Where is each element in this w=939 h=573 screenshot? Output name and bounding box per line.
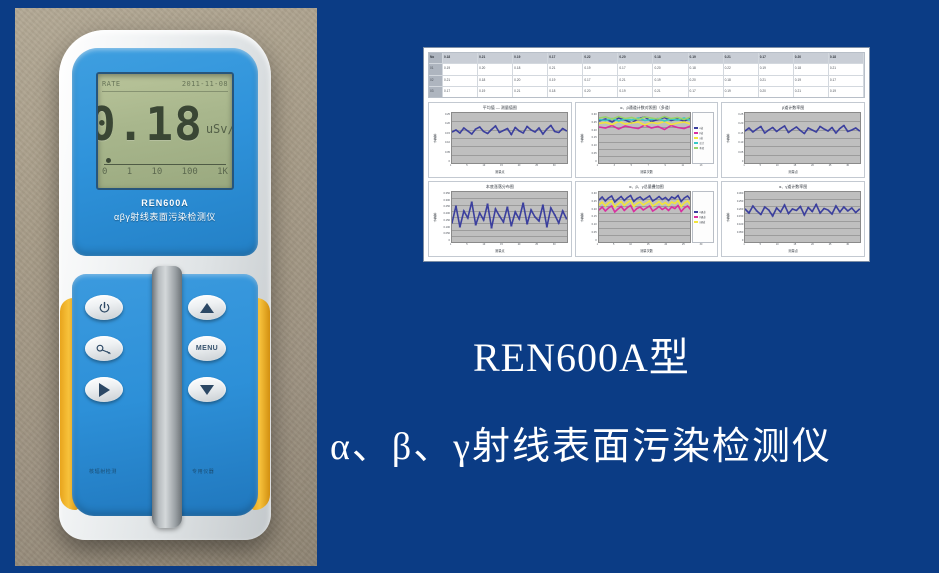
chart-data-point — [471, 133, 474, 134]
chart-y-axis-label: 计数率 — [725, 191, 731, 243]
table-cell: 0.21 — [548, 64, 583, 74]
table-cell: 0.19 — [724, 87, 759, 97]
lcd-scale-tick: 10 — [151, 167, 162, 177]
chart-data-point — [482, 219, 485, 220]
chart-data-point — [637, 119, 639, 120]
chart-data-point — [667, 200, 669, 201]
chart-data-point — [636, 203, 638, 204]
legend-swatch — [694, 132, 698, 135]
chart-y-tick: 0.300 — [732, 192, 743, 195]
chart-data-point — [683, 197, 685, 198]
chart-data-point — [626, 202, 628, 203]
play-button[interactable] — [85, 377, 123, 402]
chart-data-point — [792, 208, 795, 209]
chart-data-point — [683, 207, 685, 208]
chart-data-point — [658, 196, 660, 197]
chart-data-point — [526, 126, 529, 127]
chart-data-point — [823, 208, 826, 209]
chart-data-point — [651, 205, 653, 206]
chart-y-tick: 0 — [439, 160, 450, 163]
chart-data-point — [557, 222, 560, 223]
legend-item: γ道 — [694, 136, 712, 140]
chart-data-point — [650, 119, 652, 120]
chart-data-point — [617, 208, 619, 209]
table-cell: 0.21 — [618, 76, 653, 86]
chart-data-point — [510, 134, 513, 135]
chart-data-point — [831, 127, 834, 128]
chart-data-point — [772, 215, 775, 216]
table-cell: 0.19 — [478, 87, 513, 97]
legend-label: γ通道 — [699, 220, 705, 224]
chart-data-point — [629, 200, 631, 201]
chart-data-point — [839, 128, 842, 129]
table-cell: 0.20 — [653, 64, 688, 74]
lcd-scale-tick: 1K — [217, 167, 228, 177]
chart-data-point — [811, 129, 814, 130]
chart-data-point — [650, 122, 652, 123]
chart-data-point — [554, 131, 557, 132]
chart-data-point — [561, 210, 564, 211]
chart-data-point — [823, 128, 826, 129]
chart-data-point — [522, 202, 525, 203]
power-icon — [98, 301, 111, 314]
chart-data-point — [538, 127, 541, 128]
lcd-reading: 0.18 uSv/h — [98, 94, 232, 154]
chart-data-point — [756, 210, 759, 211]
legend-item: β通道 — [694, 215, 712, 219]
chart-data-point — [680, 206, 682, 207]
charts-grid: 平均值 — 测量值图计数率0.250.200.150.100.050151015… — [428, 102, 865, 257]
chart-y-tick: 0.350 — [439, 192, 450, 195]
chart-data-point — [506, 128, 509, 129]
lcd-scale: 01101001K — [102, 167, 228, 177]
chart-data-point — [617, 203, 619, 204]
chart-data-point — [632, 211, 634, 212]
chart-data-point — [680, 211, 682, 212]
device-handle-strip — [152, 266, 182, 528]
caption-description: α、β、γ射线表面污染检测仪 — [330, 415, 939, 470]
chart-data-point — [630, 119, 632, 120]
chart-data-point — [655, 203, 657, 204]
maker-text-left: 核辐射检测 — [89, 468, 117, 475]
chart-y-tick: 0.200 — [732, 208, 743, 211]
chart-data-point — [610, 195, 612, 196]
chart-body: 计数率0.250.200.150.100.050 — [725, 112, 861, 164]
chart-y-tick: 0.100 — [732, 223, 743, 226]
lcd-status-right: 2011-11-08 — [182, 80, 228, 88]
chart-data-point — [835, 205, 838, 206]
chart-data-point — [610, 205, 612, 206]
table-row-header: No — [429, 53, 443, 63]
chart-data-point — [506, 206, 509, 207]
chart-data-point — [648, 205, 650, 206]
chart-series-line — [745, 126, 860, 134]
table-cell: 0.17 — [583, 76, 618, 86]
chart-data-point — [807, 207, 810, 208]
table-cell: 0.18 — [724, 76, 759, 86]
chart-data-point — [624, 125, 626, 126]
table-cell: 0.19 — [794, 76, 829, 86]
chart-data-point — [642, 204, 644, 205]
chart-y-tick: 0.15 — [439, 132, 450, 135]
chart-data-point — [617, 116, 619, 117]
chart-data-point — [663, 116, 665, 117]
table-cell: 0.19 — [618, 87, 653, 97]
chart-data-point — [657, 118, 659, 119]
chart-data-point — [623, 205, 625, 206]
chart-data-point — [530, 129, 533, 130]
chart-data-point — [463, 210, 466, 211]
table-row: No0.180.210.190.170.220.200.180.190.210.… — [429, 53, 864, 64]
chart-series-svg — [745, 192, 860, 242]
chart-data-point — [620, 196, 622, 197]
table-cell: 0.21 — [478, 53, 513, 63]
chart-data-point — [467, 130, 470, 131]
chart-data-point — [827, 130, 830, 131]
chart-x-axis-label: 测量次数 — [579, 169, 715, 175]
table-cell: 0.19 — [548, 76, 583, 86]
chart-data-point — [629, 195, 631, 196]
chart-series-line — [599, 206, 691, 213]
play-icon — [99, 383, 110, 397]
chart-series-line — [452, 202, 567, 228]
lcd-status-left: RATE — [102, 80, 120, 88]
chart-data-point — [601, 196, 603, 197]
chart-data-point — [664, 207, 666, 208]
chart-y-ticks: 0.300.250.200.150.100.050 — [586, 112, 597, 164]
chart-data-point — [670, 196, 672, 197]
chart-data-point — [502, 130, 505, 131]
chart-data-point — [764, 132, 767, 133]
table-cell: 0.18 — [794, 64, 829, 74]
chart-data-point — [648, 195, 650, 196]
legend-swatch — [694, 211, 698, 214]
chart-x-axis-label: 测量次数 — [579, 248, 715, 254]
data-table: No0.180.210.190.170.220.200.180.190.210.… — [428, 52, 865, 98]
chart-y-tick: 0.25 — [586, 200, 597, 203]
search-button[interactable] — [85, 336, 123, 361]
chart-data-point — [645, 202, 647, 203]
chart-data-point — [752, 205, 755, 206]
chart-data-point — [645, 197, 647, 198]
chart-data-point — [819, 126, 822, 127]
chart-data-point — [658, 201, 660, 202]
chart-data-point — [658, 206, 660, 207]
chart-data-point — [764, 206, 767, 207]
chart-data-point — [604, 118, 606, 119]
chart-data-point — [482, 131, 485, 132]
chart-y-axis-label: 计数率 — [725, 112, 731, 164]
chart-data-point — [752, 131, 755, 132]
chart-data-point — [526, 223, 529, 224]
chart-title: α、γ道计数率图 — [725, 184, 861, 191]
chart-data-point — [663, 129, 665, 130]
chart-data-point — [639, 196, 641, 197]
chart-y-ticks: 0.250.200.150.100.050 — [732, 112, 743, 164]
chart-y-tick: 0.050 — [439, 232, 450, 235]
power-button[interactable] — [85, 295, 123, 320]
chart-data-point — [648, 200, 650, 201]
chart-data-point — [626, 197, 628, 198]
chart-data-point — [620, 206, 622, 207]
chart-data-point — [478, 212, 481, 213]
chart-data-point — [630, 127, 632, 128]
chart-data-point — [623, 200, 625, 201]
table-row-header: 02 — [429, 76, 443, 86]
table-cell: 0.22 — [724, 64, 759, 74]
legend-label: 总计 — [699, 141, 704, 145]
chart-y-ticks: 0.3500.3000.2500.2000.1500.1000.0500 — [439, 191, 450, 243]
table-cell: 0.19 — [759, 64, 794, 74]
chart-data-point — [624, 123, 626, 124]
chart-y-tick: 0.20 — [586, 129, 597, 132]
legend-label: β通道 — [699, 215, 705, 219]
chart-y-tick: 0.05 — [732, 151, 743, 154]
chart-data-point — [534, 131, 537, 132]
chart-y-tick: 0 — [586, 160, 597, 163]
chart-y-tick: 0.25 — [586, 121, 597, 124]
chart-y-tick: 0.15 — [586, 136, 597, 139]
chart-data-point — [463, 127, 466, 128]
chart-data-point — [674, 198, 676, 199]
table-cell: 0.20 — [583, 87, 618, 97]
chart-data-point — [557, 132, 560, 133]
chart-data-point — [768, 129, 771, 130]
chart-data-point — [756, 128, 759, 129]
table-cell: 0.20 — [794, 53, 829, 63]
chart-series-svg — [452, 192, 567, 242]
chart-data-point — [530, 209, 533, 210]
chart-x-axis-label: 测量点 — [725, 248, 861, 254]
chart-data-point — [683, 202, 685, 203]
chart-data-point — [639, 206, 641, 207]
chart-data-point — [655, 208, 657, 209]
chart-y-tick: 0.300 — [439, 199, 450, 202]
chart-data-point — [546, 226, 549, 227]
table-cell: 0.18 — [689, 64, 724, 74]
chart-data-point — [643, 120, 645, 121]
chart-data-point — [542, 133, 545, 134]
chart-data-point — [604, 122, 606, 123]
chart-data-point — [613, 211, 615, 212]
chart-y-tick: 0.30 — [586, 113, 597, 116]
chart-body: 计数率0.250.200.150.100.050 — [432, 112, 568, 164]
chart-legend: α通道β通道γ通道 — [692, 191, 714, 243]
table-row-header: 01 — [429, 64, 443, 74]
chart-data-point — [518, 218, 521, 219]
chart-data-point — [674, 208, 676, 209]
table-cell: 0.18 — [443, 53, 478, 63]
menu-button[interactable]: MENU — [188, 336, 226, 361]
chart-y-tick: 0.10 — [732, 141, 743, 144]
chart-y-tick: 0.050 — [732, 231, 743, 234]
chart-data-point — [518, 130, 521, 131]
chart-data-point — [611, 118, 613, 119]
software-screenshot: No0.180.210.190.170.220.200.180.190.210.… — [423, 47, 870, 262]
chart-data-point — [474, 224, 477, 225]
chart-y-axis-label: 计数率 — [579, 191, 585, 243]
chart-series-line — [745, 205, 860, 217]
table-cell: 0.19 — [583, 64, 618, 74]
chart-y-tick: 0.20 — [732, 122, 743, 125]
table-cell: 0.17 — [689, 87, 724, 97]
chart-data-point — [819, 212, 822, 213]
table-cell: 0.17 — [443, 87, 478, 97]
lcd-scale-tick: 100 — [182, 167, 198, 177]
chart-data-point — [601, 206, 603, 207]
chart-data-point — [561, 128, 564, 129]
up-button[interactable] — [188, 295, 226, 320]
chart-data-point — [604, 120, 606, 121]
chart-data-point — [626, 207, 628, 208]
chart-series-svg — [599, 113, 691, 163]
legend-swatch — [694, 147, 698, 150]
chart-data-point — [624, 118, 626, 119]
legend-swatch — [694, 137, 698, 140]
chart-y-tick: 0.200 — [439, 212, 450, 215]
legend-label: γ道 — [699, 136, 703, 140]
chart-data-point — [760, 126, 763, 127]
chart-data-point — [676, 119, 678, 120]
chart-data-point — [683, 119, 685, 120]
chart-data-point — [611, 124, 613, 125]
chart-data-point — [522, 132, 525, 133]
chart-data-point — [776, 131, 779, 132]
chart-data-point — [490, 129, 493, 130]
chart-data-point — [843, 206, 846, 207]
chart-data-point — [855, 127, 858, 128]
chart-y-tick: 0.05 — [439, 151, 450, 154]
chart-data-point — [467, 217, 470, 218]
chart-y-ticks: 0.300.250.200.150.100.050 — [586, 191, 597, 243]
chart-data-point — [494, 208, 497, 209]
chart-y-tick: 0.05 — [586, 152, 597, 155]
chart-panel-5: α、β、γ总量叠加图计数率0.300.250.200.150.100.050α通… — [575, 181, 719, 257]
chart-data-point — [772, 127, 775, 128]
chart-data-point — [617, 120, 619, 121]
chart-data-point — [661, 199, 663, 200]
chart-data-point — [661, 204, 663, 205]
table-cell: 0.21 — [513, 87, 548, 97]
table-cell: 0.21 — [829, 64, 864, 74]
chart-panel-1: 平均值 — 测量值图计数率0.250.200.150.100.050151015… — [428, 102, 572, 178]
chart-y-tick: 0 — [586, 239, 597, 242]
chart-data-point — [630, 117, 632, 118]
chart-x-axis-label: 测量点 — [725, 169, 861, 175]
chart-data-point — [768, 209, 771, 210]
legend-item: α通道 — [694, 210, 712, 214]
chart-y-axis-label: 计数率 — [432, 112, 438, 164]
chart-body: 计数率0.300.250.200.150.100.050α道β道γ道总计本底 — [579, 112, 715, 164]
table-cell: 0.18 — [829, 53, 864, 63]
chart-data-point — [643, 124, 645, 125]
legend-label: β道 — [699, 131, 703, 135]
table-cell: 0.20 — [513, 76, 548, 86]
chart-data-point — [780, 211, 783, 212]
down-button[interactable] — [188, 377, 226, 402]
chart-data-point — [459, 226, 462, 227]
chart-data-point — [839, 211, 842, 212]
chart-body: 计数率0.300.250.200.150.100.050α通道β通道γ通道 — [579, 191, 715, 243]
chart-panel-3: β道计数率图计数率0.250.200.150.100.0501510152025… — [721, 102, 865, 178]
chart-data-point — [650, 117, 652, 118]
detector-device: RATE 2011-11-08 0.18 uSv/h 01101001K REN… — [59, 30, 271, 540]
chart-y-tick: 0.10 — [586, 223, 597, 226]
chart-data-point — [617, 198, 619, 199]
chart-data-point — [686, 195, 688, 196]
chart-data-point — [607, 207, 609, 208]
chart-data-point — [795, 126, 798, 127]
chart-data-point — [670, 201, 672, 202]
table-cell: 0.22 — [583, 53, 618, 63]
chart-data-point — [680, 201, 682, 202]
chart-data-point — [538, 220, 541, 221]
chart-data-point — [642, 199, 644, 200]
chart-data-point — [686, 205, 688, 206]
chart-data-point — [471, 201, 474, 202]
chart-title: α、β通道计数对照图（多道） — [579, 105, 715, 112]
chart-data-point — [550, 125, 553, 126]
chart-y-tick: 0.150 — [439, 219, 450, 222]
legend-item: β道 — [694, 131, 712, 135]
chart-data-point — [674, 203, 676, 204]
chart-data-point — [677, 200, 679, 201]
lcd-divider — [102, 91, 228, 92]
maker-text-right: 专用仪器 — [192, 468, 214, 475]
chart-data-point — [604, 210, 606, 211]
chart-y-tick: 0.15 — [586, 215, 597, 218]
chart-data-point — [657, 126, 659, 127]
chart-x-axis-label: 测量点 — [432, 169, 568, 175]
chart-data-point — [452, 222, 453, 223]
legend-item: α道 — [694, 126, 712, 130]
chart-data-point — [494, 125, 497, 126]
chart-y-tick: 0.10 — [439, 141, 450, 144]
chart-data-point — [760, 214, 763, 215]
legend-label: 本底 — [699, 146, 704, 150]
chart-data-point — [815, 131, 818, 132]
chart-y-tick: 0.250 — [732, 200, 743, 203]
table-cell: 0.17 — [548, 53, 583, 63]
chart-data-point — [546, 128, 549, 129]
chart-data-point — [637, 121, 639, 122]
chart-data-point — [663, 120, 665, 121]
chart-data-point — [604, 205, 606, 206]
chart-data-point — [645, 207, 647, 208]
chart-data-point — [620, 201, 622, 202]
chart-data-point — [683, 128, 685, 129]
chart-y-ticks: 0.3000.2500.2000.1500.1000.0500 — [732, 191, 743, 243]
chart-plot-area — [744, 112, 861, 164]
chart-data-point — [636, 198, 638, 199]
chart-y-tick: 0.150 — [732, 215, 743, 218]
chart-data-point — [639, 201, 641, 202]
chart-data-point — [651, 210, 653, 211]
chart-data-point — [776, 207, 779, 208]
chart-data-point — [780, 128, 783, 129]
chart-data-point — [799, 130, 802, 131]
chart-data-point — [623, 210, 625, 211]
chart-y-tick: 0.30 — [586, 192, 597, 195]
lcd-bar-axis — [104, 164, 226, 165]
chart-title: α、β、γ总量叠加图 — [579, 184, 715, 191]
chart-data-point — [498, 215, 501, 216]
table-cell: 0.18 — [478, 76, 513, 86]
chart-y-tick: 0.20 — [586, 208, 597, 211]
chart-y-tick: 0.100 — [439, 226, 450, 229]
chart-data-point — [607, 197, 609, 198]
chart-data-point — [486, 203, 489, 204]
